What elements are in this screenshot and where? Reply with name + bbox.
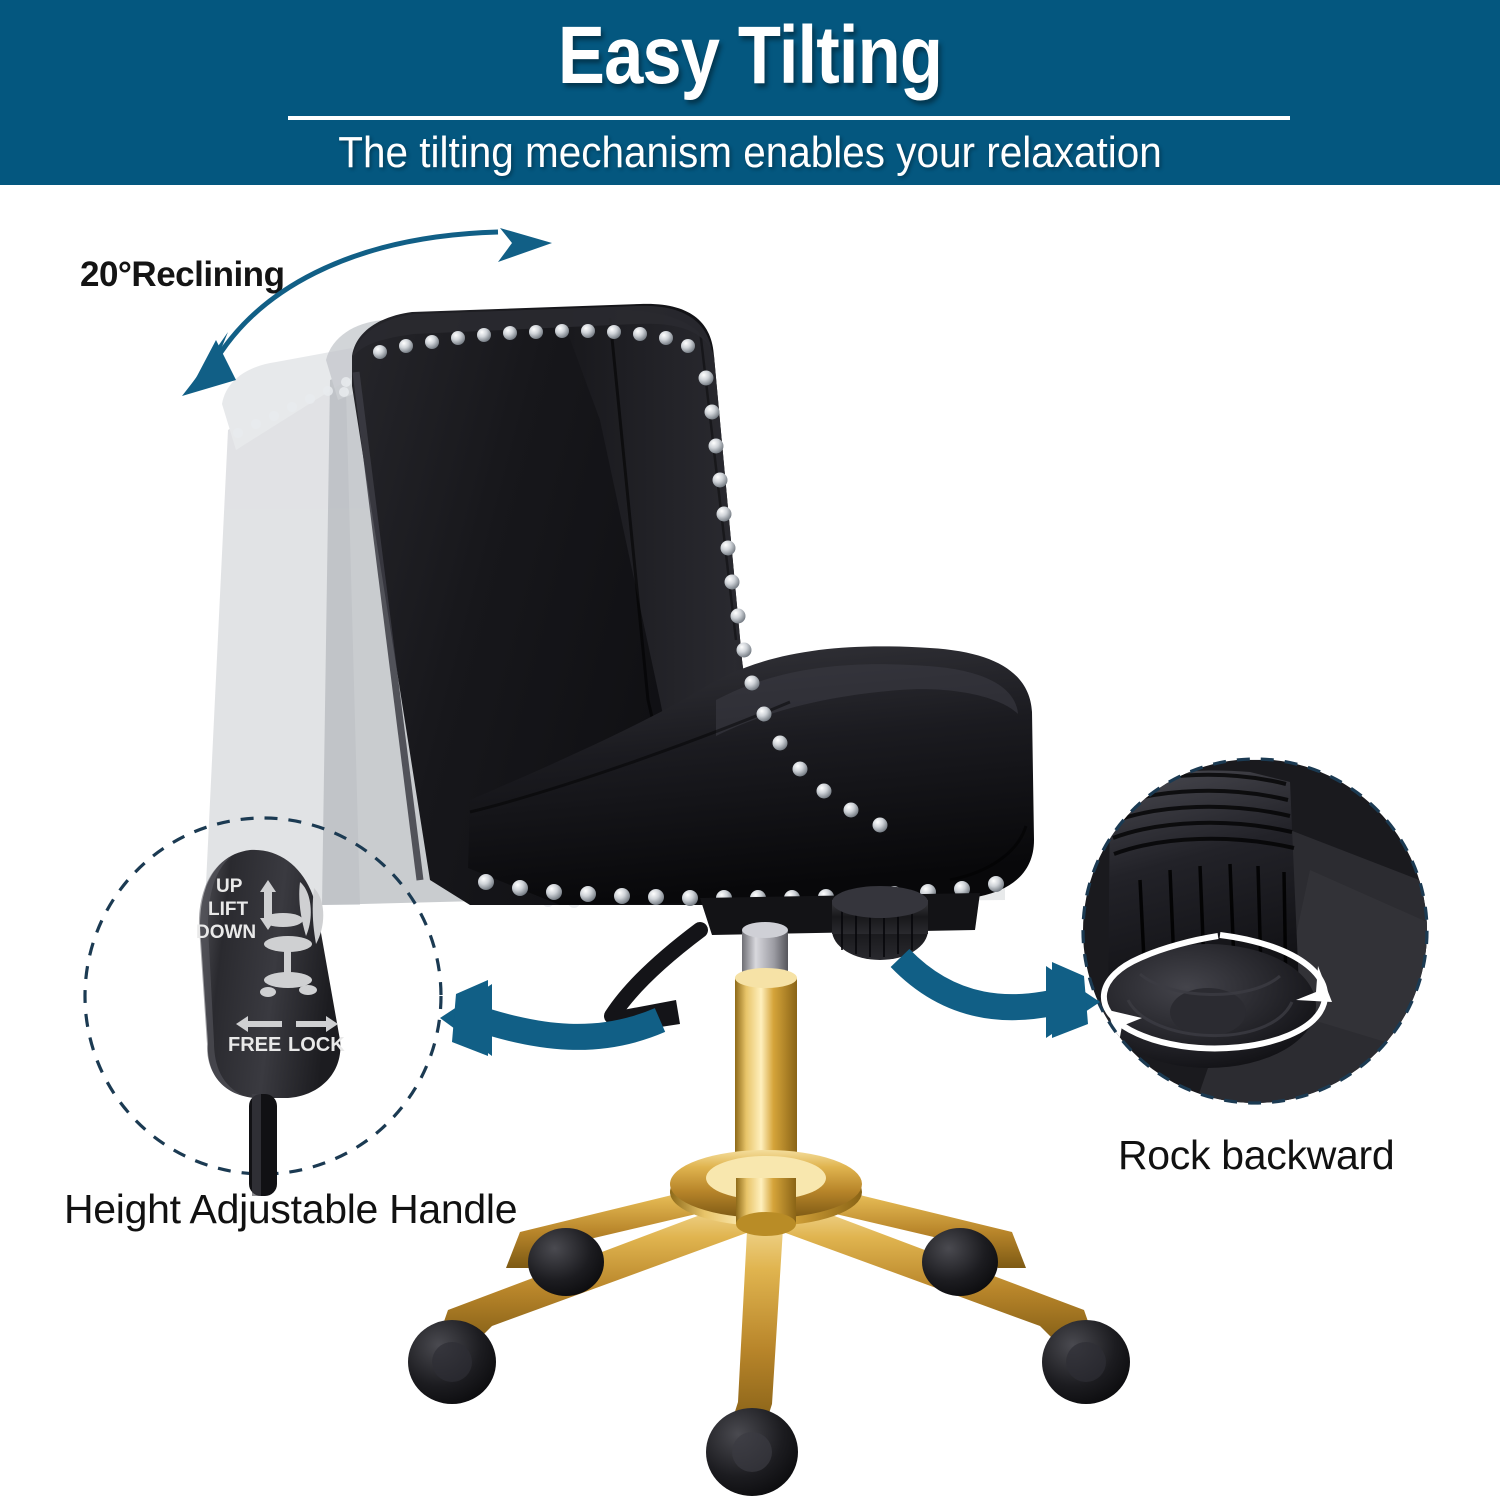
header-banner: Easy Tilting The tilting mechanism enabl…	[0, 0, 1500, 185]
height-handle-callout	[0, 0, 1500, 1500]
lever-handle-graphic	[0, 0, 1500, 1500]
lever-label-lift: LIFT	[208, 899, 248, 921]
page-title: Easy Tilting	[105, 6, 1395, 106]
chair-base	[434, 1150, 1098, 1442]
dashed-circle-left	[85, 818, 441, 1174]
casters	[408, 1228, 1130, 1496]
tension-knob-callout	[0, 0, 1500, 1500]
product-illustration	[0, 0, 1500, 1500]
page-subtitle: The tilting mechanism enables your relax…	[60, 122, 1440, 184]
dashed-circle-right	[1083, 759, 1427, 1103]
tension-knob-part	[832, 886, 928, 960]
lever-label-lock: LOCK	[288, 1034, 345, 1057]
rock-backward-caption: Rock backward	[1118, 1132, 1394, 1179]
lever-label-down: DOWN	[196, 922, 256, 944]
recline-angle-label: 20°Reclining	[80, 255, 284, 295]
height-handle-caption: Height Adjustable Handle	[64, 1186, 517, 1233]
recline-arrow	[0, 0, 1500, 1500]
infographic-canvas: Easy Tilting The tilting mechanism enabl…	[0, 0, 1500, 1500]
lever-label-free: FREE	[228, 1034, 281, 1057]
title-divider	[288, 116, 1290, 120]
lever-label-up: UP	[216, 876, 242, 898]
